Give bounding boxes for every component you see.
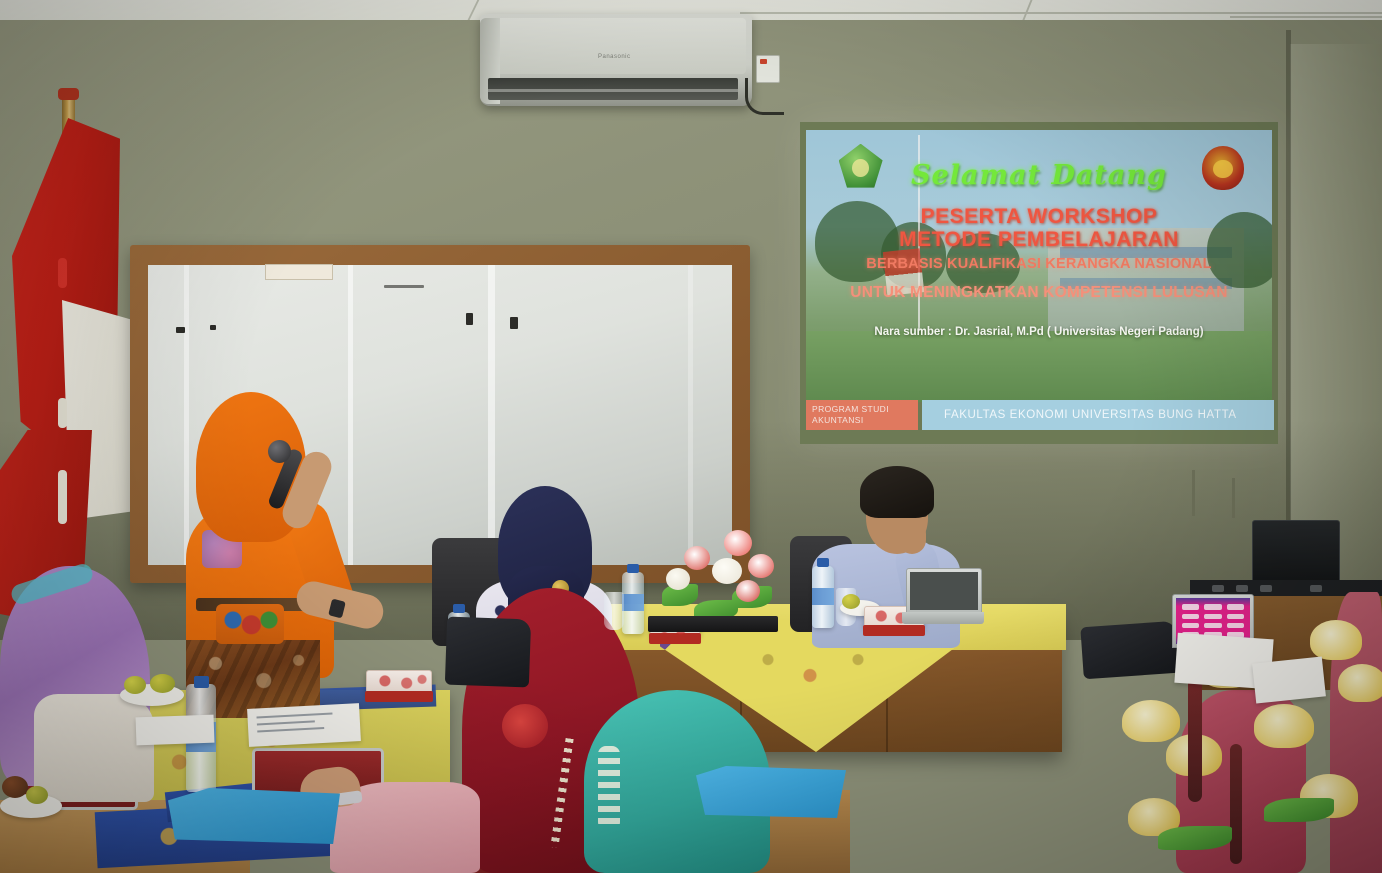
ac-front-panel	[486, 18, 746, 74]
slide-speaker-credit: Nara sumber : Dr. Jasrial, M.Pd ( Univer…	[806, 326, 1272, 338]
slide-subtitle-line-2: UNTUK MENINGKATKAN KOMPETENSI LULUSAN	[806, 284, 1272, 302]
flag-tie-lower	[58, 398, 67, 428]
flag-rope	[58, 470, 67, 524]
flag-tie-upper	[58, 258, 67, 288]
slide-title-line-1: PESERTA WORKSHOP	[806, 205, 1272, 229]
ac-air-vent	[488, 78, 738, 100]
slide-field	[806, 331, 1272, 402]
teal-hijab-pearls	[598, 746, 620, 830]
tv-monitor	[1252, 520, 1340, 584]
flag-pole-cap	[58, 88, 79, 100]
slide-title-line-2: METODE PEMBELAJARAN	[806, 228, 1272, 252]
man-hand	[898, 520, 926, 554]
seminar-room-photo: Panasonic	[0, 0, 1382, 873]
speaker-front-embroidery	[216, 604, 284, 644]
black-handbag[interactable]	[445, 617, 531, 688]
silver-laptop[interactable]	[902, 568, 984, 626]
ac-brand-label: Panasonic	[598, 54, 631, 60]
blue-plastic-bag-1[interactable]	[168, 788, 340, 844]
maroon-hijab-beads	[550, 738, 573, 848]
blue-plastic-bag-2[interactable]	[696, 766, 846, 818]
water-bottle-1[interactable]	[622, 572, 644, 634]
drinking-glass-1[interactable]	[604, 592, 624, 630]
handout-paper-1[interactable]	[247, 703, 361, 747]
slide-welcome-text: Selamat Datang	[806, 160, 1272, 191]
microphone-head	[268, 440, 291, 463]
flower-vase-base	[648, 616, 778, 632]
whiteboard-name-plate	[265, 264, 333, 280]
fruit-3	[2, 776, 28, 798]
water-bottle-2[interactable]	[812, 566, 834, 628]
man-hair	[860, 466, 934, 518]
air-conditioner: Panasonic	[480, 14, 752, 106]
flower-arrangement-center	[660, 528, 780, 628]
fruit-5	[842, 594, 860, 609]
projection-screen: Selamat Datang PESERTA WORKSHOP METODE P…	[800, 122, 1278, 444]
maroon-hijab-flower-pin	[502, 704, 548, 748]
handout-paper-2[interactable]	[136, 715, 215, 746]
screen-support-rod-left	[1192, 470, 1195, 516]
slide-faculty-label: FAKULTAS EKONOMI UNIVERSITAS BUNG HATTA	[922, 400, 1274, 430]
fruit-1	[124, 676, 146, 694]
fruit-2	[150, 674, 175, 693]
slide-subtitle-line-1: BERBASIS KUALIFIKASI KERANGKA NASIONAL	[806, 256, 1272, 272]
ac-power-cable	[745, 78, 784, 115]
slide-footer-bar: PROGRAM STUDI AKUNTANSI FAKULTAS EKONOMI…	[806, 400, 1274, 430]
fruit-4	[26, 786, 48, 804]
screen-support-rod-right	[1232, 478, 1235, 518]
slide-program-label: PROGRAM STUDI AKUNTANSI	[806, 400, 918, 430]
gift-box-2[interactable]	[366, 670, 432, 694]
wall-power-socket[interactable]	[756, 55, 780, 83]
slide-background-photo: Selamat Datang PESERTA WORKSHOP METODE P…	[806, 130, 1272, 402]
handout-paper-4[interactable]	[1252, 656, 1326, 703]
